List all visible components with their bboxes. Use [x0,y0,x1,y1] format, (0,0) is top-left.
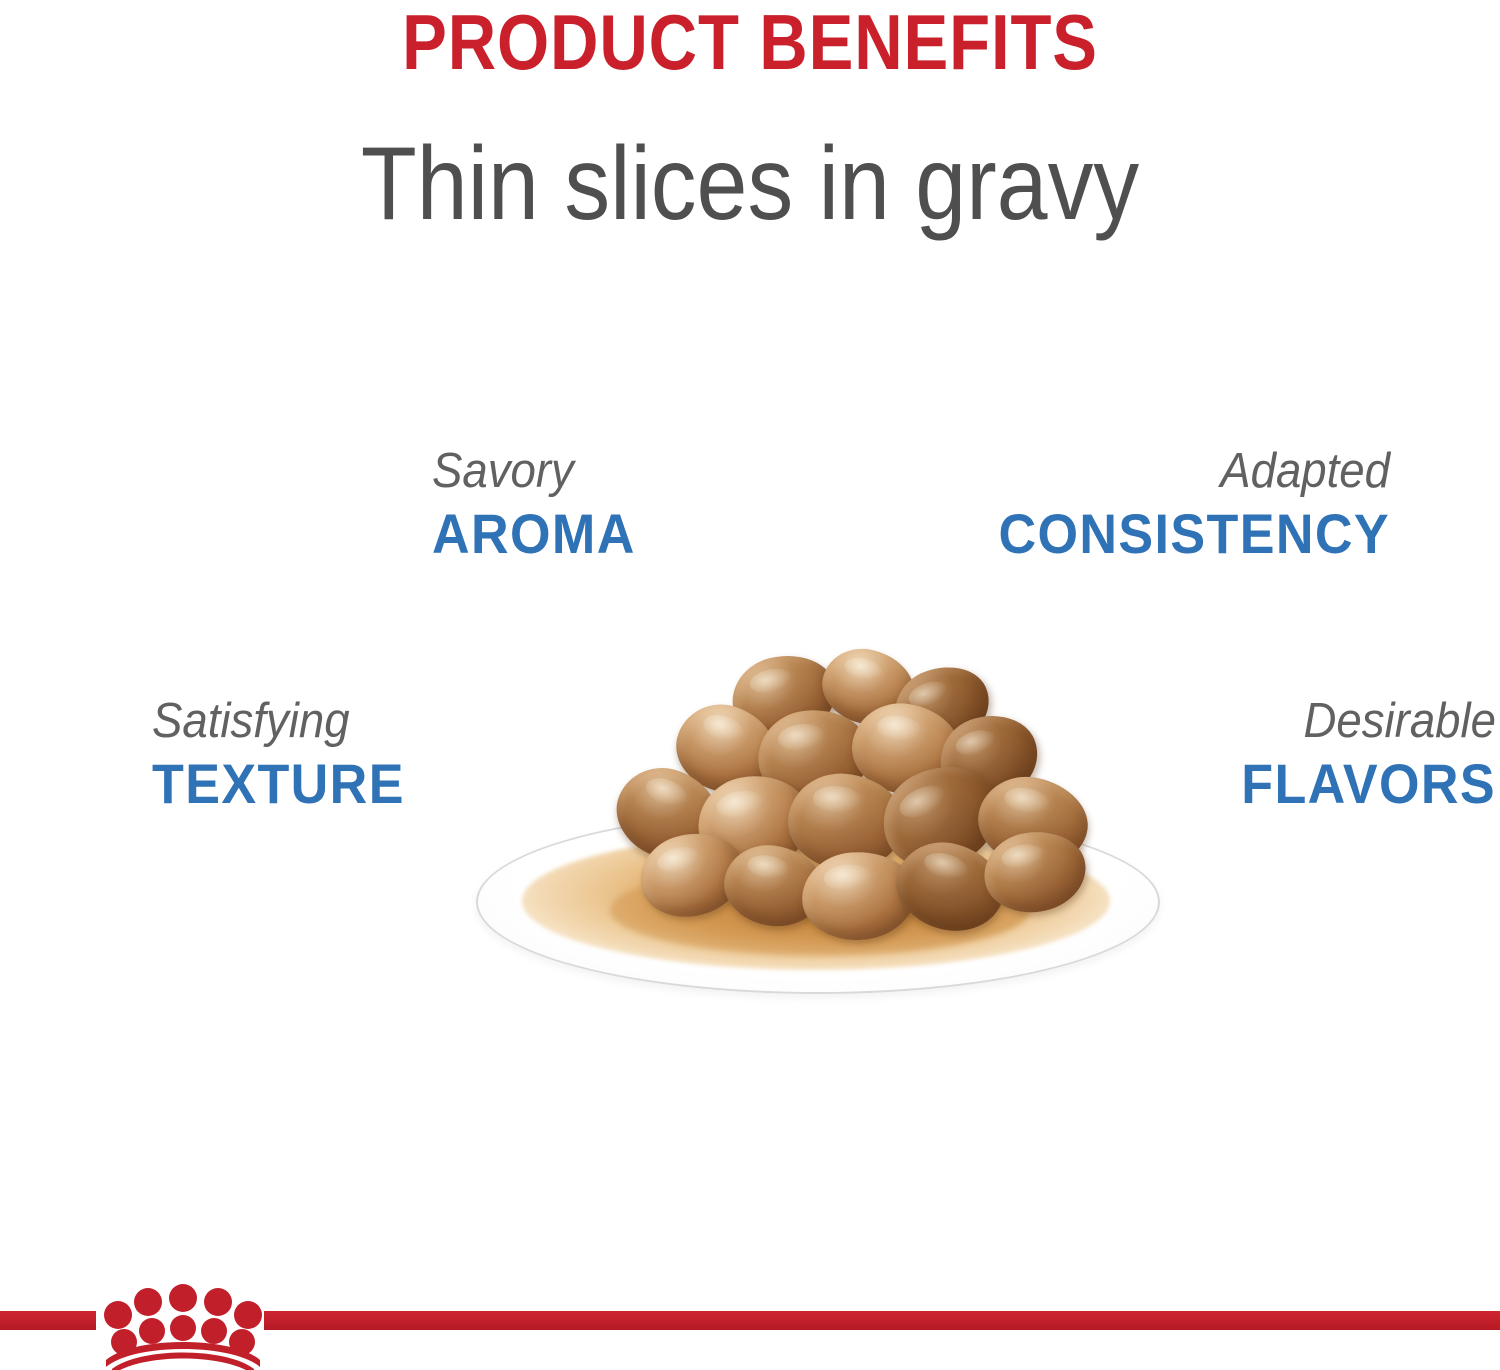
benefit-texture-label: TEXTURE [152,753,405,815]
product-food-image [470,620,1170,1000]
benefit-flavors-label: FLAVORS [1241,753,1496,815]
benefit-flavors: Desirable FLAVORS [1222,696,1496,815]
benefit-flavors-lead: Desirable [1241,696,1496,747]
product-subtitle: Thin slices in gravy [90,128,1410,240]
benefit-consistency-lead: Adapted [998,446,1390,497]
benefit-aroma-label: AROMA [432,503,636,565]
benefit-texture-lead: Satisfying [152,696,405,747]
benefit-aroma: Savory AROMA [432,446,651,565]
benefit-texture: Satisfying TEXTURE [152,696,424,815]
footer-rule-right [264,1311,1500,1330]
benefit-aroma-lead: Savory [432,446,636,497]
benefit-consistency: Adapted CONSISTENCY [969,446,1390,565]
page-title: PRODUCT BENEFITS [105,2,1395,84]
royal-canin-crown-logo [100,1283,266,1370]
benefit-consistency-label: CONSISTENCY [998,503,1390,565]
product-benefits-panel: PRODUCT BENEFITS Thin slices in gravy Sa… [0,0,1500,1370]
footer-rule-left [0,1311,96,1330]
